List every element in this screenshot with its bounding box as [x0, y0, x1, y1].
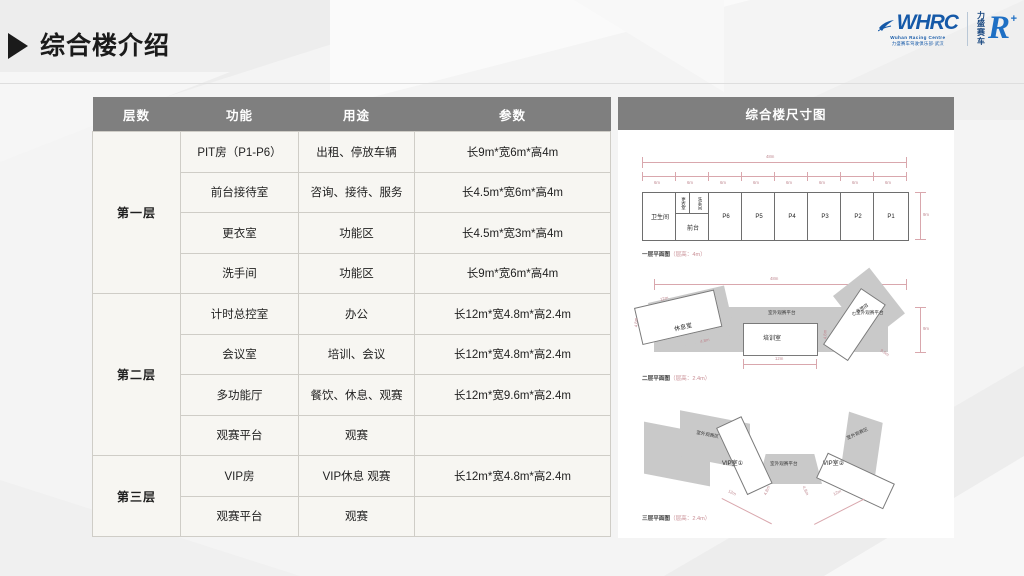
dim-depth: 9m [923, 326, 929, 331]
cell-usage: 餐饮、休息、观赛 [299, 375, 415, 416]
whrc-subtitle-cn: 力盛赛车驾驶俱乐部·武汉 [892, 41, 944, 47]
dim-line-depth [920, 307, 921, 352]
cell-floor: 第三层 [93, 456, 181, 537]
cell-params: 长12m*宽4.8m*高2.4m [415, 334, 611, 375]
whrc-text: WHRC [897, 12, 958, 33]
cell-function: 更衣室 [181, 213, 299, 254]
col-header-usage: 用途 [299, 97, 415, 132]
cell-usage: 培训、会议 [299, 334, 415, 375]
building-spec-table: 层数 功能 用途 参数 第一层 PIT房（P1-P6） 出租、停放车辆 长9m*… [92, 97, 611, 537]
r-glyph: R [988, 10, 1010, 46]
dim-segment: 6m [786, 180, 792, 185]
dim-tick [675, 172, 676, 181]
room-p3: P3 [807, 192, 843, 241]
dim-training-depth: 4.8m [822, 330, 827, 340]
dim-tick [873, 172, 874, 181]
floor2-caption-dim: （层高：2.4m） [670, 376, 710, 382]
cell-function: 多功能厅 [181, 375, 299, 416]
dim-tick [708, 172, 709, 181]
dim-segment: 6m [852, 180, 858, 185]
dim-tick [807, 172, 808, 181]
dim-depth: 9m [923, 212, 929, 217]
cell-params: 长4.5m*宽6m*高4m [415, 172, 611, 213]
table-header-row: 层数 功能 用途 参数 [93, 97, 611, 132]
room-p2: P2 [840, 192, 876, 241]
dim-training-width: 12m [775, 356, 783, 361]
cell-params: 长12m*宽4.8m*高2.4m [415, 456, 611, 497]
dim-line-total [642, 162, 906, 163]
dim-tick [906, 279, 907, 290]
cell-usage: 观赛 [299, 496, 415, 537]
cell-params: 长12m*宽4.8m*高2.4m [415, 294, 611, 335]
dim-control-width: 9.6m [879, 348, 890, 357]
dim-segment: 6m [753, 180, 759, 185]
cell-usage: 出租、停放车辆 [299, 132, 415, 173]
cell-usage: 办公 [299, 294, 415, 335]
dim-tick [642, 157, 643, 168]
lisheng-char-4: 车 [977, 38, 985, 47]
floor2-caption-text: 二层平面图 [642, 376, 670, 382]
room-p1: P1 [873, 192, 909, 241]
cell-params [415, 496, 611, 537]
cell-function: 计时总控室 [181, 294, 299, 335]
dim-tick [840, 172, 841, 181]
dim-segment: 6m [654, 180, 660, 185]
dimension-diagram-panel: 综合楼尺寸图 48m 6m 6m 6m 6m 6m 6m 6m [618, 97, 954, 538]
col-header-function: 功能 [181, 97, 299, 132]
r-plus-mark: R + [988, 15, 1010, 43]
cell-usage: 功能区 [299, 253, 415, 294]
dim-vip2-length: 12m [832, 488, 842, 496]
plus-glyph: + [1011, 13, 1017, 25]
room-washroom: 卫生间 [642, 192, 678, 241]
dim-line-vip2 [814, 499, 864, 525]
floor1-caption: 一层平面图（层高：4m） [642, 250, 706, 258]
page-title: 综合楼介绍 [40, 34, 170, 59]
whrc-logo: WHRC Wuhan Racing Centre 力盛赛车驾驶俱乐部·武汉 [878, 12, 958, 47]
cell-function: VIP房 [181, 456, 299, 497]
cell-params: 长9m*宽6m*高4m [415, 253, 611, 294]
room-vip1-label: VIP室① [722, 458, 743, 467]
table-row: 第三层 VIP房 VIP休息 观赛 长12m*宽4.8m*高2.4m [93, 456, 611, 497]
table-row: 第一层 PIT房（P1-P6） 出租、停放车辆 长9m*宽6m*高4m [93, 132, 611, 173]
dim-tick [654, 279, 655, 290]
outdoor-platform-label-2: 室外观赛平台 [856, 310, 884, 316]
room-p6: P6 [708, 192, 744, 241]
slide-header: 综合楼介绍 WHRC Wuhan Racing Centre 力盛赛车驾驶俱乐部… [0, 0, 1024, 84]
floor3-caption: 三层平面图（层高：2.4m） [642, 514, 710, 522]
cell-function: 观赛平台 [181, 496, 299, 537]
cell-params: 长12m*宽9.6m*高2.4m [415, 375, 611, 416]
table-row: 第二层 计时总控室 办公 长12m*宽4.8m*高2.4m [93, 294, 611, 335]
dim-tick [741, 172, 742, 181]
floor1-caption-text: 一层平面图 [642, 252, 670, 258]
whrc-wordmark: WHRC [878, 12, 958, 33]
page-title-group: 综合楼介绍 [8, 33, 170, 59]
outdoor-platform-label-1: 室外观赛平台 [768, 310, 796, 316]
dim-vip2-depth: 4.8m [801, 485, 810, 496]
room-reception: 前台 [675, 213, 711, 241]
swoosh-icon [878, 19, 895, 33]
brand-logo: WHRC Wuhan Racing Centre 力盛赛车驾驶俱乐部·武汉 力 … [878, 6, 1010, 52]
dim-tick [915, 307, 926, 308]
triangle-right-icon [8, 33, 28, 59]
dim-tick [915, 352, 926, 353]
dim-tick [906, 157, 907, 168]
diagram-panel-title: 综合楼尺寸图 [618, 97, 954, 130]
cell-floor: 第一层 [93, 132, 181, 294]
cell-function: PIT房（P1-P6） [181, 132, 299, 173]
floor3-plan: 室外观赛区 室外观赛区 室外观赛平台 VIP室① VIP室② 12m 4.8m … [618, 406, 954, 536]
room-p5: P5 [741, 192, 777, 241]
floor2-caption: 二层平面图（层高：2.4m） [642, 374, 710, 382]
floor3-caption-dim: （层高：2.4m） [670, 516, 710, 522]
cell-function: 观赛平台 [181, 415, 299, 456]
cell-params [415, 415, 611, 456]
dim-line-training [743, 364, 816, 365]
floor1-caption-dim: （层高：4m） [670, 252, 706, 258]
col-header-params: 参数 [415, 97, 611, 132]
floor2-plan: 48m 休息室 培训室 控制中心 室外观赛平台 室外观赛平台 12m 4.8m … [618, 270, 954, 405]
dim-tick [774, 172, 775, 181]
dim-total-width: 48m [766, 154, 774, 159]
dim-tick [816, 359, 817, 369]
cell-function: 前台接待室 [181, 172, 299, 213]
outdoor-platform-center-label: 室外观赛平台 [770, 461, 798, 467]
building-spec-table-panel: 层数 功能 用途 参数 第一层 PIT房（P1-P6） 出租、停放车辆 长9m*… [92, 97, 610, 537]
dim-segment: 6m [885, 180, 891, 185]
cell-usage: 功能区 [299, 213, 415, 254]
lisheng-cn-text: 力 盛 赛 车 [977, 12, 985, 47]
room-vip2-label: VIP室② [823, 458, 844, 467]
cell-params: 长9m*宽6m*高4m [415, 132, 611, 173]
dim-line-vip1 [722, 498, 772, 524]
lisheng-logo: 力 盛 赛 车 R + [977, 12, 1010, 47]
room-training-label: 培训室 [763, 333, 781, 342]
cell-function: 会议室 [181, 334, 299, 375]
col-header-floor: 层数 [93, 97, 181, 132]
floor1-plan: 48m 6m 6m 6m 6m 6m 6m 6m 6m 卫生间 更衣室 洗手间 … [618, 138, 954, 268]
cell-usage: VIP休息 观赛 [299, 456, 415, 497]
dim-line-depth [920, 192, 921, 239]
dim-tick [642, 172, 643, 181]
cell-usage: 观赛 [299, 415, 415, 456]
dim-tick [915, 239, 926, 240]
dim-segment: 6m [720, 180, 726, 185]
dim-lounge-depth: 4.8m [633, 318, 638, 328]
dim-tick [906, 172, 907, 181]
dim-vip1-length: 12m [727, 488, 737, 496]
dim-tick [743, 359, 744, 369]
whrc-subtitle-en: Wuhan Racing Centre [890, 35, 945, 40]
cell-floor: 第二层 [93, 294, 181, 456]
logo-divider [967, 12, 968, 46]
dim-tick [915, 192, 926, 193]
cell-usage: 咨询、接待、服务 [299, 172, 415, 213]
header-divider [0, 83, 1024, 84]
table-body: 第一层 PIT房（P1-P6） 出租、停放车辆 长9m*宽6m*高4m 前台接待… [93, 132, 611, 537]
dim-segment: 6m [687, 180, 693, 185]
room-p4: P4 [774, 192, 810, 241]
dim-segment: 6m [819, 180, 825, 185]
cell-params: 长4.5m*宽3m*高4m [415, 213, 611, 254]
dim-total-width: 48m [770, 276, 778, 281]
floor3-caption-text: 三层平面图 [642, 516, 670, 522]
cell-function: 洗手间 [181, 253, 299, 294]
diagram-panel-body: 48m 6m 6m 6m 6m 6m 6m 6m 6m 卫生间 更衣室 洗手间 … [618, 130, 954, 538]
